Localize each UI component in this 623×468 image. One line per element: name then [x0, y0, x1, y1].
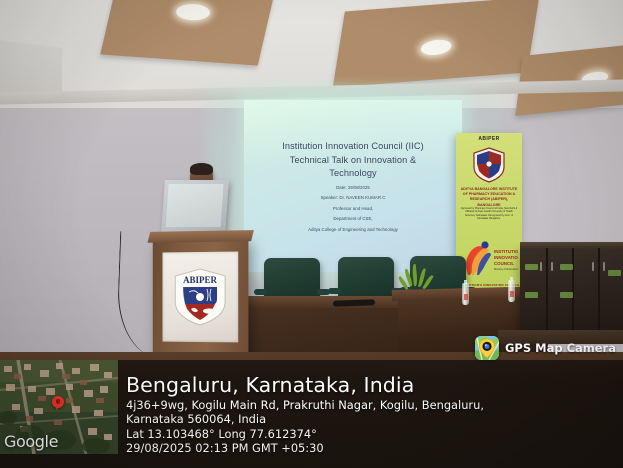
slide-detail-line: Date: 29/08/2025	[250, 185, 456, 192]
gps-badge-label: GPS Map Camera	[505, 341, 616, 355]
iic-logo-icon: INSTITUTION'S INNOVATION COUNCIL Ministr…	[460, 237, 518, 281]
cabinet-label	[560, 292, 573, 298]
slide-detail-line: Professor and Head,	[250, 206, 456, 213]
cabinet-label	[608, 270, 621, 276]
gps-map-camera-icon	[475, 336, 499, 360]
map-location-pin	[52, 396, 64, 408]
slide-title-line-1: Institution Innovation Council (IIC)	[250, 140, 456, 154]
timestamp-line: 29/08/2025 02:13 PM GMT +05:30	[126, 441, 615, 455]
podium: ABIPER	[153, 237, 249, 361]
svg-text:INSTITUTION'S: INSTITUTION'S	[494, 249, 518, 254]
ceiling-panel-light	[333, 0, 539, 88]
banner-title-text: ADITYA BANGALORE INSTITUTE OF PHARMACY E…	[459, 187, 519, 208]
slide-title-line-2: Technical Talk on Innovation &	[250, 154, 456, 168]
cabinet-label	[525, 292, 538, 298]
location-info-block: Bengaluru, Karnataka, India 4j36+9wg, Ko…	[126, 373, 615, 455]
cabinet-label	[525, 264, 538, 270]
address-line-1: 4j36+9wg, Kogilu Main Rd, Prakruthi Naga…	[126, 398, 615, 412]
cabinet-divider	[546, 248, 548, 334]
abiper-crest-icon: ABIPER	[171, 266, 229, 328]
laptop-screen	[166, 184, 224, 227]
cabinet-label	[560, 264, 573, 270]
wall-cabinets	[520, 248, 623, 334]
presentation-slide: Institution Innovation Council (IIC) Tec…	[250, 140, 456, 233]
podium-top	[148, 230, 254, 243]
mini-map[interactable]: Google	[0, 360, 118, 454]
city-line: Bengaluru, Karnataka, India	[126, 373, 615, 398]
cabinet-handle[interactable]	[603, 262, 605, 271]
water-bottle	[462, 283, 469, 305]
podium-front-panel: ABIPER	[163, 252, 239, 343]
chair-armrest	[254, 289, 267, 295]
cabinet-handle[interactable]	[592, 262, 594, 271]
cabinet-handle[interactable]	[551, 262, 553, 271]
water-bottle	[508, 280, 515, 302]
coordinates-line: Lat 13.103468° Long 77.612374°	[126, 427, 615, 441]
svg-text:COUNCIL: COUNCIL	[494, 261, 514, 266]
laptop	[161, 180, 229, 234]
cabinet-divider	[572, 248, 574, 334]
abiper-crest-icon	[472, 147, 506, 183]
gps-info-overlay: Google Bengaluru, Karnataka, India 4j36+…	[0, 360, 623, 468]
speaker-hair	[190, 163, 213, 175]
slide-detail-line: Speaker: Dr. NAVEEN KUMAR C	[250, 195, 456, 202]
gps-map-camera-photo: Institution Innovation Council (IIC) Tec…	[0, 0, 623, 468]
ceiling-panel-light	[515, 40, 623, 116]
chair-backrest	[338, 257, 394, 301]
svg-text:ABIPER: ABIPER	[183, 275, 217, 285]
projection-screen: Institution Innovation Council (IIC) Tec…	[244, 100, 462, 272]
banner-header-text: ABIPER	[456, 136, 522, 142]
svg-text:Ministry of Education: Ministry of Education	[494, 267, 518, 271]
gps-map-camera-badge: GPS Map Camera	[475, 336, 616, 360]
ceiling-panel-light	[100, 0, 275, 66]
banner-subtitle-text: Approved by Pharmacy Council of India, N…	[460, 207, 518, 220]
chair-armrest	[328, 288, 341, 294]
cabinet-divider	[598, 248, 600, 334]
slide-detail-line: Aditya College of Engineering and Techno…	[250, 227, 456, 234]
address-line-2: Karnataka 560064, India	[126, 412, 615, 426]
cabinet-handle[interactable]	[540, 262, 542, 271]
slide-detail-line: Department of CSE,	[250, 216, 456, 223]
svg-text:INNOVATION: INNOVATION	[494, 255, 518, 260]
slide-title-line-3: Technology	[250, 167, 456, 181]
google-watermark: Google	[4, 432, 58, 451]
